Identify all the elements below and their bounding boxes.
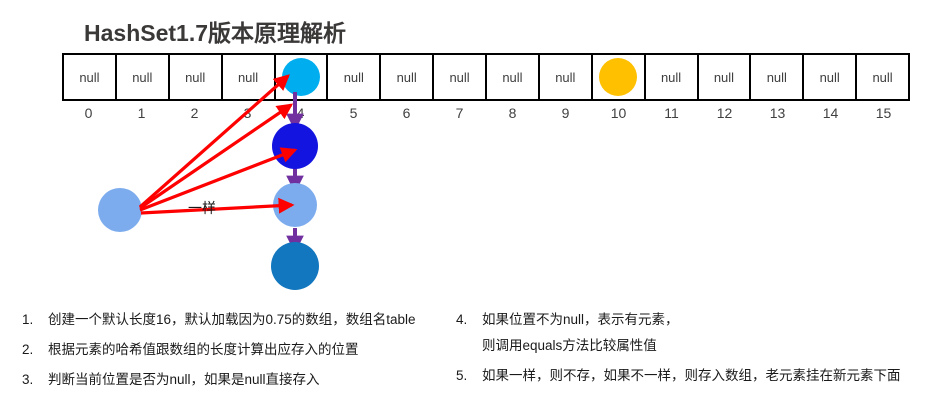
note-text: 创建一个默认长度16，默认加载因为0.75的数组，数组名table	[48, 310, 452, 330]
array-cell-value: null	[555, 70, 575, 85]
array-index-10: 10	[592, 105, 645, 127]
array-cell-14: null	[804, 55, 857, 99]
array-cell-value: null	[661, 70, 681, 85]
chain-node-light-blue	[273, 183, 317, 227]
note-marker: 4.	[456, 310, 482, 330]
compare-arrow-to-light-blue-node	[141, 205, 292, 213]
array-cell-value: null	[872, 70, 892, 85]
array-cell-10	[593, 55, 646, 99]
array-cell-value: null	[344, 70, 364, 85]
chain-node-dark-blue	[272, 123, 318, 169]
array-index-13: 13	[751, 105, 804, 127]
array-cell-7: null	[434, 55, 487, 99]
note-item: 2.根据元素的哈希值跟数组的长度计算出应存入的位置	[22, 340, 452, 360]
note-text: 如果一样，则不存，如果不一样，则存入数组，老元素挂在新元素下面	[482, 366, 926, 386]
array-cell-0: null	[64, 55, 117, 99]
sameness-label: 一样	[188, 198, 216, 218]
array-cell-3: null	[223, 55, 276, 99]
array-index-4: 4	[274, 105, 327, 127]
array-cell-11: null	[646, 55, 699, 99]
hash-array-table: nullnullnullnullnullnullnullnullnullnull…	[62, 53, 910, 101]
note-marker: 5.	[456, 366, 482, 386]
note-text-line-2: 则调用equals方法比较属性值	[482, 336, 926, 356]
note-text: 根据元素的哈希值跟数组的长度计算出应存入的位置	[48, 340, 452, 360]
array-cell-value: null	[714, 70, 734, 85]
chain-node-medium-blue	[271, 242, 319, 290]
note-text-line: 创建一个默认长度16，默认加载因为0.75的数组，数组名table	[48, 312, 416, 327]
note-item: 5.如果一样，则不存，如果不一样，则存入数组，老元素挂在新元素下面	[456, 366, 926, 386]
array-cell-4	[276, 55, 329, 99]
array-index-2: 2	[168, 105, 221, 127]
array-cell-9: null	[540, 55, 593, 99]
notes-column-right: 4.如果位置不为null，表示有元素，则调用equals方法比较属性值5.如果一…	[456, 310, 926, 396]
array-index-14: 14	[804, 105, 857, 127]
note-marker: 2.	[22, 340, 48, 360]
array-cell-value: null	[132, 70, 152, 85]
note-item: 4.如果位置不为null，表示有元素，则调用equals方法比较属性值	[456, 310, 926, 356]
array-cell-15: null	[857, 55, 908, 99]
bucket-node-10	[599, 58, 637, 96]
source-node-light-blue	[98, 188, 142, 232]
array-cell-8: null	[487, 55, 540, 99]
array-cell-value: null	[185, 70, 205, 85]
array-index-row: 0123456789101112131415	[62, 105, 910, 127]
array-cell-12: null	[699, 55, 752, 99]
array-index-8: 8	[486, 105, 539, 127]
note-item: 1.创建一个默认长度16，默认加载因为0.75的数组，数组名table	[22, 310, 452, 330]
note-marker: 1.	[22, 310, 48, 330]
note-text-line: 判断当前位置是否为null，如果是null直接存入	[48, 372, 320, 387]
array-cell-value: null	[502, 70, 522, 85]
page-title: HashSet1.7版本原理解析	[84, 14, 346, 48]
note-text: 如果位置不为null，表示有元素，则调用equals方法比较属性值	[482, 310, 926, 356]
array-cell-value: null	[79, 70, 99, 85]
array-index-12: 12	[698, 105, 751, 127]
bucket-node-4	[282, 58, 320, 96]
array-cell-value: null	[397, 70, 417, 85]
array-index-3: 3	[221, 105, 274, 127]
note-item: 3.判断当前位置是否为null，如果是null直接存入	[22, 370, 452, 390]
note-text-line: 根据元素的哈希值跟数组的长度计算出应存入的位置	[48, 342, 359, 357]
array-cell-6: null	[381, 55, 434, 99]
array-index-7: 7	[433, 105, 486, 127]
array-index-15: 15	[857, 105, 910, 127]
array-index-9: 9	[539, 105, 592, 127]
array-cell-value: null	[820, 70, 840, 85]
note-text-line: 如果位置不为null，表示有元素，	[482, 312, 679, 327]
note-marker: 3.	[22, 370, 48, 390]
array-index-11: 11	[645, 105, 698, 127]
array-index-0: 0	[62, 105, 115, 127]
array-index-5: 5	[327, 105, 380, 127]
array-index-6: 6	[380, 105, 433, 127]
compare-arrow-to-dark-blue-node	[140, 150, 295, 210]
array-cell-13: null	[751, 55, 804, 99]
array-cell-5: null	[328, 55, 381, 99]
note-text: 判断当前位置是否为null，如果是null直接存入	[48, 370, 452, 390]
array-cell-value: null	[449, 70, 469, 85]
array-index-1: 1	[115, 105, 168, 127]
note-text-line: 如果一样，则不存，如果不一样，则存入数组，老元素挂在新元素下面	[482, 368, 901, 383]
array-cell-value: null	[767, 70, 787, 85]
array-cell-value: null	[238, 70, 258, 85]
notes-column-left: 1.创建一个默认长度16，默认加载因为0.75的数组，数组名table2.根据元…	[22, 310, 452, 400]
array-cell-1: null	[117, 55, 170, 99]
array-cell-2: null	[170, 55, 223, 99]
